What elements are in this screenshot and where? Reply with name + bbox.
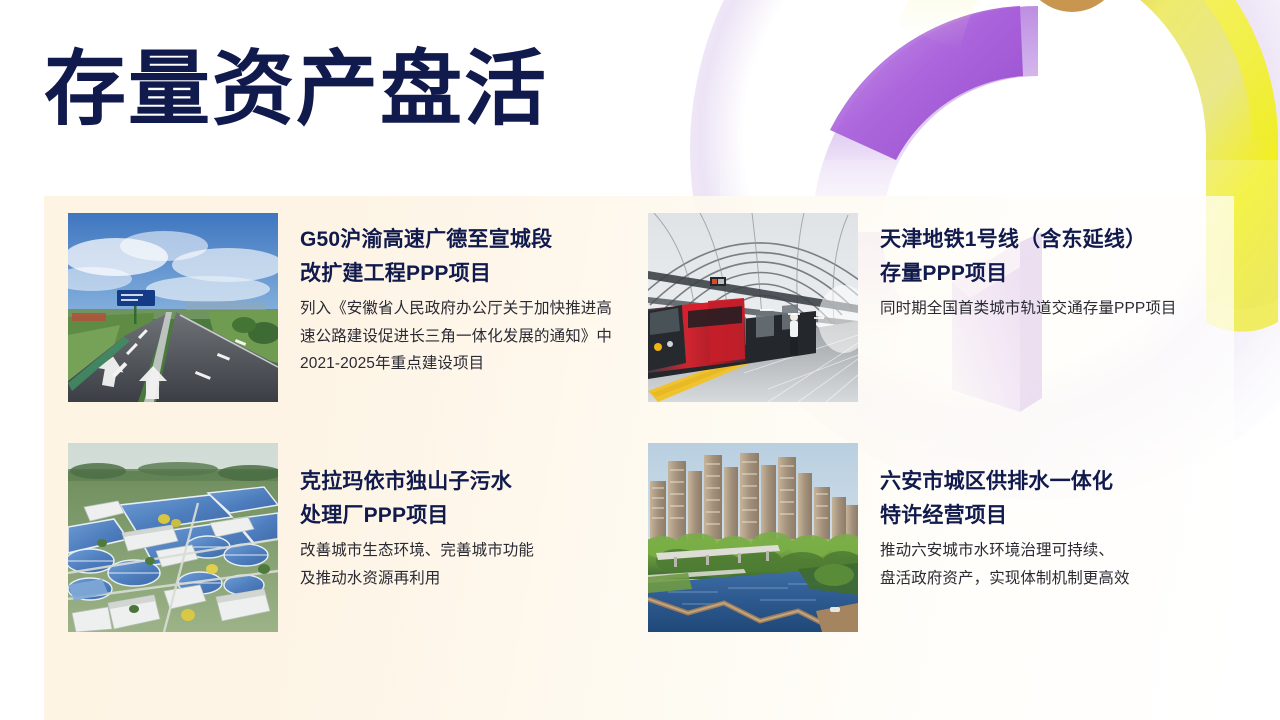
- card-description-line: 及推动水资源再利用: [300, 565, 648, 593]
- card-heading-line1: 天津地铁1号线（含东延线）: [880, 228, 1146, 251]
- card-heading: 天津地铁1号线（含东延线） 存量PPP项目: [880, 223, 1228, 291]
- project-card-grid: G50沪渝高速广德至宣城段 改扩建工程PPP项目 列入《安徽省人民政府办公厅关于…: [68, 213, 1228, 673]
- card-description: 同时期全国首类城市轨道交通存量PPP项目: [880, 295, 1228, 323]
- project-card[interactable]: 六安市城区供排水一体化 特许经营项目 推动六安城市水环境治理可持续、 盘活政府资…: [648, 443, 1228, 673]
- card-description-line: 改善城市生态环境、完善城市功能: [300, 537, 648, 565]
- card-heading-line2: 特许经营项目: [880, 499, 1228, 533]
- highway-photo: [68, 213, 278, 402]
- page-title: 存量资产盘活: [44, 44, 548, 136]
- project-card[interactable]: G50沪渝高速广德至宣城段 改扩建工程PPP项目 列入《安徽省人民政府办公厅关于…: [68, 213, 648, 443]
- slide-canvas: 存量资产盘活: [0, 0, 1280, 720]
- card-description-line: 推动六安城市水环境治理可持续、: [880, 537, 1228, 565]
- city-waterfront-photo: [648, 443, 858, 632]
- card-heading: G50沪渝高速广德至宣城段 改扩建工程PPP项目: [300, 223, 648, 291]
- wastewater-plant-photo: [68, 443, 278, 632]
- card-heading: 克拉玛依市独山子污水 处理厂PPP项目: [300, 465, 648, 533]
- card-description-line: 同时期全国首类城市轨道交通存量PPP项目: [880, 295, 1228, 323]
- card-text: G50沪渝高速广德至宣城段 改扩建工程PPP项目 列入《安徽省人民政府办公厅关于…: [278, 213, 648, 378]
- card-text: 六安市城区供排水一体化 特许经营项目 推动六安城市水环境治理可持续、 盘活政府资…: [858, 443, 1228, 592]
- card-description-line: 速公路建设促进长三角一体化发展的通知》中: [300, 323, 648, 351]
- card-description: 改善城市生态环境、完善城市功能 及推动水资源再利用: [300, 537, 648, 592]
- project-card[interactable]: 天津地铁1号线（含东延线） 存量PPP项目 同时期全国首类城市轨道交通存量PPP…: [648, 213, 1228, 443]
- card-heading-line2: 改扩建工程PPP项目: [300, 257, 648, 291]
- metro-station-photo: [648, 213, 858, 402]
- card-text: 天津地铁1号线（含东延线） 存量PPP项目 同时期全国首类城市轨道交通存量PPP…: [858, 213, 1228, 323]
- card-text: 克拉玛依市独山子污水 处理厂PPP项目 改善城市生态环境、完善城市功能 及推动水…: [278, 443, 648, 592]
- card-heading-line1: G50沪渝高速广德至宣城段: [300, 228, 552, 251]
- card-heading-line1: 克拉玛依市独山子污水: [300, 470, 512, 493]
- station-staff: [790, 313, 798, 355]
- card-description: 列入《安徽省人民政府办公厅关于加快推进高 速公路建设促进长三角一体化发展的通知》…: [300, 295, 648, 378]
- card-description-line: 列入《安徽省人民政府办公厅关于加快推进高: [300, 295, 648, 323]
- card-heading-line2: 处理厂PPP项目: [300, 499, 648, 533]
- card-description-line: 2021-2025年重点建设项目: [300, 350, 648, 378]
- card-heading-line1: 六安市城区供排水一体化: [880, 470, 1113, 493]
- project-card[interactable]: 克拉玛依市独山子污水 处理厂PPP项目 改善城市生态环境、完善城市功能 及推动水…: [68, 443, 648, 673]
- card-description: 推动六安城市水环境治理可持续、 盘活政府资产，实现体制机制更高效: [880, 537, 1228, 592]
- card-heading: 六安市城区供排水一体化 特许经营项目: [880, 465, 1228, 533]
- card-description-line: 盘活政府资产，实现体制机制更高效: [880, 565, 1228, 593]
- card-heading-line2: 存量PPP项目: [880, 257, 1228, 291]
